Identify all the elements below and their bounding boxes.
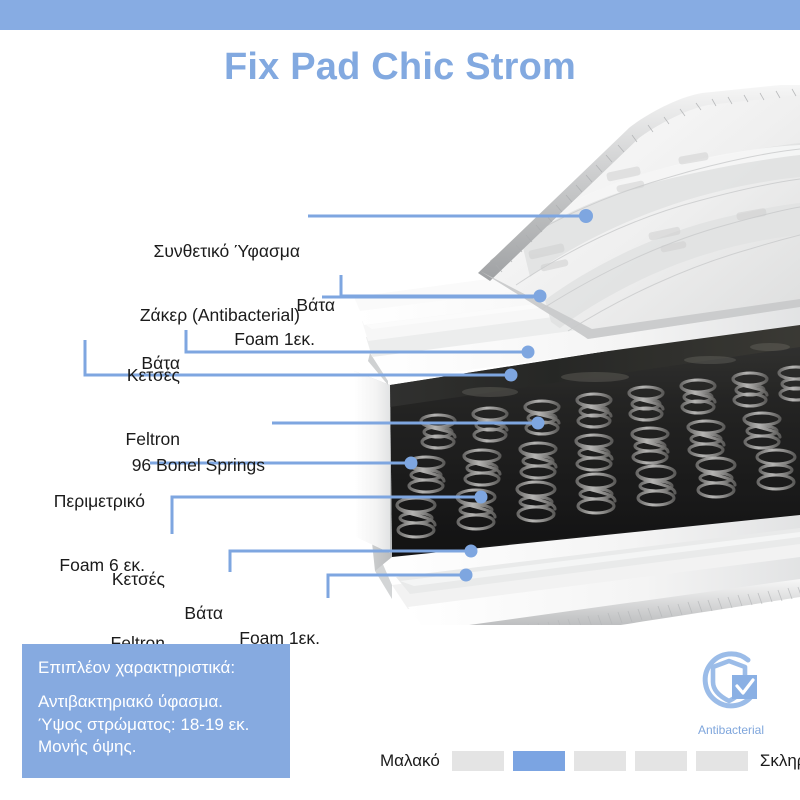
antibacterial-badge: Antibacterial (686, 650, 776, 737)
page-title: Fix Pad Chic Strom (0, 46, 800, 89)
firmness-soft-label: Μαλακό (380, 751, 440, 771)
features-line: Ύψος στρώματος: 18-19 εκ. (38, 714, 290, 737)
shield-check-icon (696, 650, 766, 716)
antibacterial-label: Antibacterial (686, 723, 776, 737)
callout-vata-upper: Βάτα (105, 310, 180, 417)
features-line: Μονής όψης. (38, 736, 290, 759)
firmness-scale: Μαλακό Σκληρό (380, 748, 780, 774)
callout-line: Foam 1εκ. (160, 329, 315, 350)
firmness-segment-2[interactable] (513, 751, 565, 771)
callout-line: Περιμετρικό (0, 491, 145, 512)
product-infographic: Fix Pad Chic Strom (0, 0, 800, 800)
firmness-segment-4[interactable] (635, 751, 687, 771)
additional-features-panel: Επιπλέον χαρακτηριστικά: Αντιβακτηριακό … (22, 644, 290, 778)
firmness-hard-label: Σκληρό (760, 751, 800, 771)
features-heading: Επιπλέον χαρακτηριστικά: (38, 658, 290, 678)
callout-foam-top: Foam 1εκ. (160, 286, 315, 393)
mattress-cutaway-illustration (330, 85, 800, 625)
firmness-segment-3[interactable] (574, 751, 626, 771)
features-line: Αντιβακτηριακό ύφασμα. (38, 691, 290, 714)
firmness-segment-1[interactable] (452, 751, 504, 771)
firmness-segment-5[interactable] (696, 751, 748, 771)
firmness-segments (452, 751, 748, 771)
callout-line: Βάτα (105, 353, 180, 374)
top-accent-bar (0, 0, 800, 30)
